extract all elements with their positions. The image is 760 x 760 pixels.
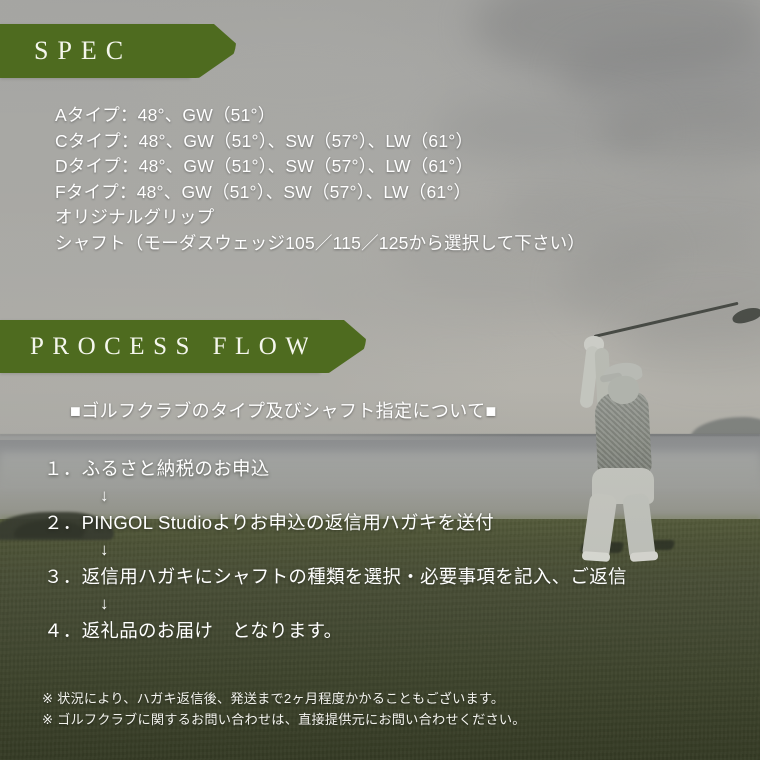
flow-step: ２．PINGOL Studioよりお申込の返信用ハガキを送付 — [44, 509, 744, 537]
footnote-line: ※ 状況により、ハガキ返信後、発送まで2ヶ月程度かかることもございます。 — [42, 688, 526, 709]
flow-step: １．ふるさと納税のお申込 — [44, 455, 744, 483]
spec-line: シャフト（モーダスウェッジ105／115／125から選択して下さい） — [55, 231, 745, 257]
spec-list: Aタイプ：48°、GW（51°） Cタイプ：48°、GW（51°）、SW（57°… — [55, 103, 745, 257]
spec-line: オリジナルグリップ — [55, 205, 745, 231]
spec-line: Dタイプ：48°、GW（51°）、SW（57°）、LW（61°） — [55, 154, 745, 180]
spec-line: Fタイプ：48°、GW（51°）、SW（57°）、LW（61°） — [55, 180, 745, 206]
spec-ribbon-banner: SPEC — [0, 24, 190, 78]
footnotes: ※ 状況により、ハガキ返信後、発送まで2ヶ月程度かかることもございます。 ※ ゴ… — [42, 688, 526, 730]
footnote-line: ※ ゴルフクラブに関するお問い合わせは、直接提供元にお問い合わせください。 — [42, 709, 526, 730]
flow-arrow-icon: ↓ — [44, 537, 744, 563]
process-flow-ribbon-label: PROCESS FLOW — [30, 333, 317, 361]
spec-line: Cタイプ：48°、GW（51°）、SW（57°）、LW（61°） — [55, 129, 745, 155]
flow-step: ３．返信用ハガキにシャフトの種類を選択・必要事項を記入、ご返信 — [44, 563, 744, 591]
flow-arrow-icon: ↓ — [44, 483, 744, 509]
spec-ribbon-label: SPEC — [34, 36, 132, 66]
flow-step: ４．返礼品のお届け となります。 — [44, 617, 744, 645]
process-flow-steps: １．ふるさと納税のお申込 ↓ ２．PINGOL Studioよりお申込の返信用ハ… — [44, 455, 744, 645]
process-flow-ribbon-banner: PROCESS FLOW — [0, 320, 320, 373]
spec-line: Aタイプ：48°、GW（51°） — [55, 103, 745, 129]
promo-page: SPEC Aタイプ：48°、GW（51°） Cタイプ：48°、GW（51°）、S… — [0, 0, 760, 760]
process-flow-heading: ■ゴルフクラブのタイプ及びシャフト指定について■ — [70, 398, 497, 424]
flow-arrow-icon: ↓ — [44, 591, 744, 617]
